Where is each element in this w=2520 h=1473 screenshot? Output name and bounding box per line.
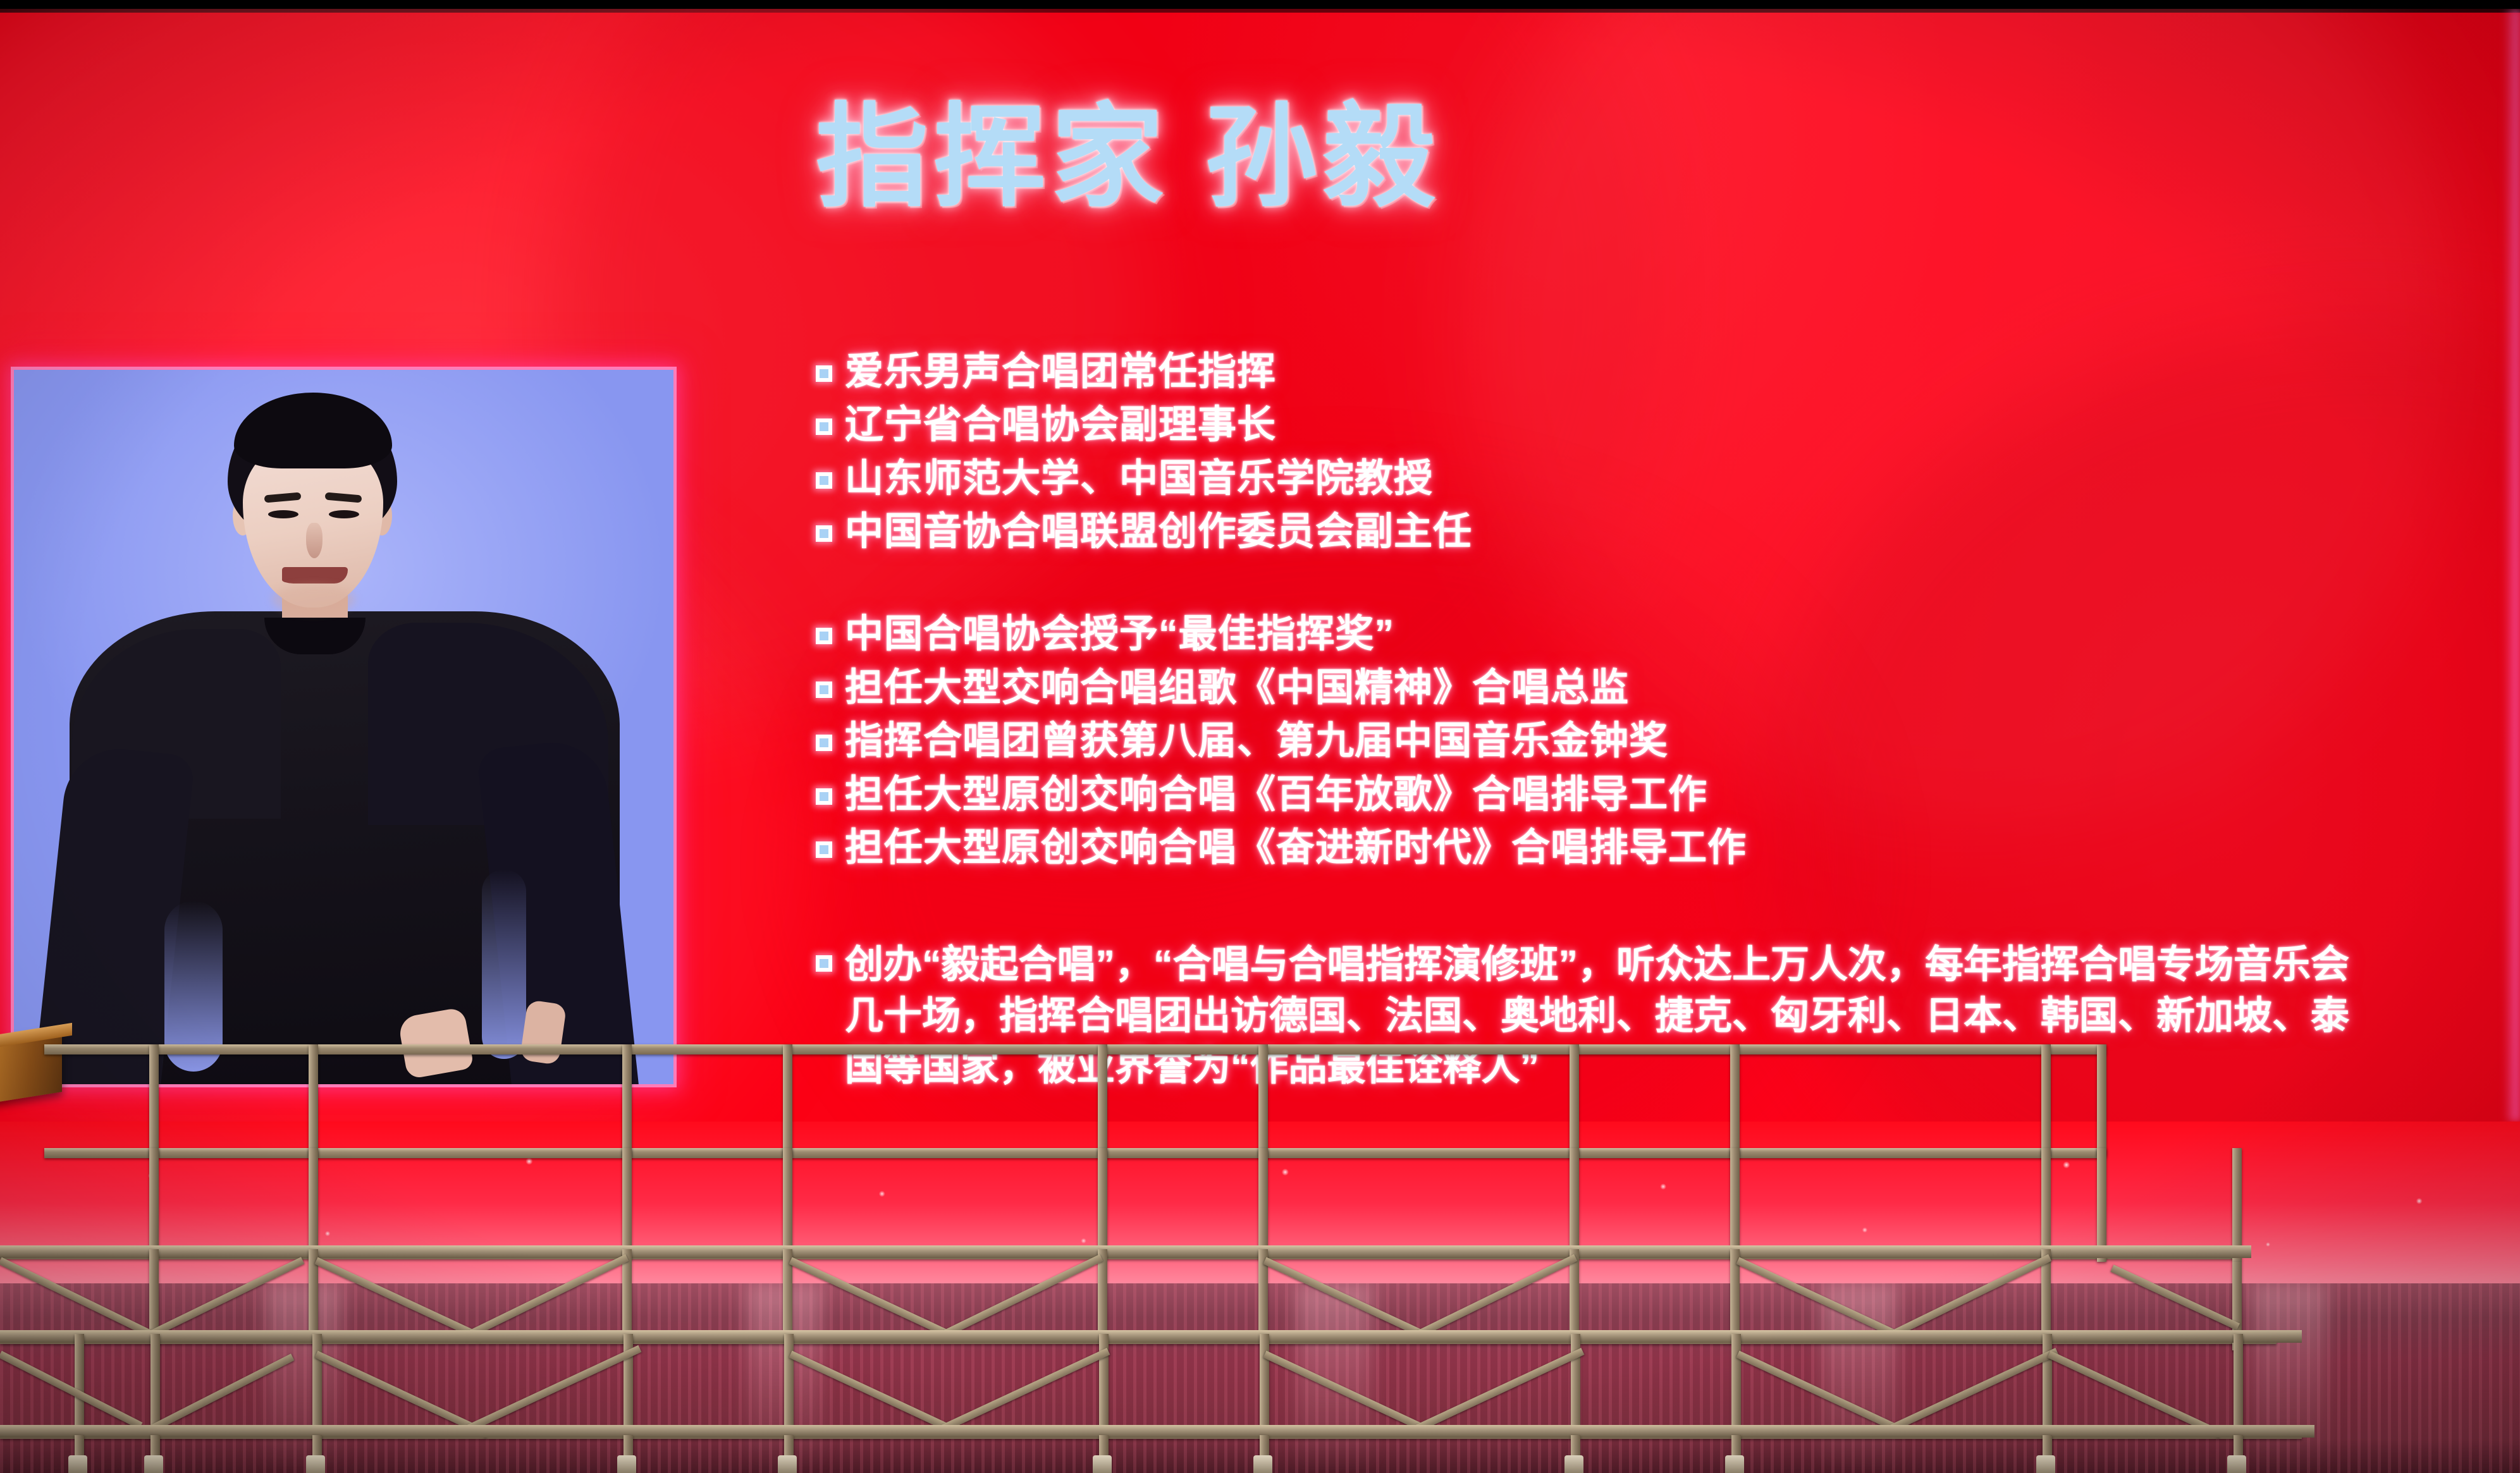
credential-text: 辽宁省合唱协会副理事长: [845, 402, 1276, 447]
portrait-eye-right: [329, 510, 359, 518]
square-bullet-icon: [816, 955, 832, 972]
list-item: 山东师范大学、中国音乐学院教授: [816, 456, 2422, 501]
credential-text: 山东师范大学、中国音乐学院教授: [845, 456, 1433, 501]
portrait-arm-gap-right: [482, 869, 526, 1059]
biography-paragraph: 创办“毅起合唱”，“合唱与合唱指挥演修班”，听众达上万人次，每年指挥合唱专场音乐…: [845, 939, 2375, 1092]
conductor-portrait: [14, 370, 673, 1084]
credentials-list: 爱乐男声合唱团常任指挥 辽宁省合唱协会副理事长 山东师范大学、中国音乐学院教授 …: [816, 349, 2422, 1101]
square-bullet-icon: [816, 681, 832, 698]
square-bullet-icon: [816, 472, 832, 489]
screen-right-edge-glow: [2504, 9, 2520, 1122]
square-bullet-icon: [816, 788, 832, 805]
portrait-nose: [306, 523, 323, 558]
screen-top-edge: [0, 9, 2520, 13]
list-item: 担任大型原创交响合唱《奋进新时代》合唱排导工作: [816, 825, 2422, 870]
led-lower-panel: [0, 1122, 2520, 1302]
portrait-eye-left: [268, 510, 298, 518]
list-item: 担任大型原创交响合唱《百年放歌》合唱排导工作: [816, 772, 2422, 817]
portrait-arm-gap-left: [164, 901, 223, 1072]
square-bullet-icon: [816, 628, 832, 644]
list-item: 辽宁省合唱协会副理事长: [816, 402, 2422, 447]
credential-text: 担任大型交响合唱组歌《中国精神》合唱总监: [845, 665, 1629, 710]
square-bullet-icon: [816, 525, 832, 542]
portrait-hand-left: [397, 1007, 474, 1080]
credential-text: 爱乐男声合唱团常任指挥: [845, 349, 1276, 394]
square-bullet-icon: [816, 735, 832, 751]
portrait-mouth: [282, 567, 348, 584]
list-item: 爱乐男声合唱团常任指挥: [816, 349, 2422, 394]
credential-text: 指挥合唱团曾获第八届、第九届中国音乐金钟奖: [845, 718, 1668, 763]
list-item: 担任大型交响合唱组歌《中国精神》合唱总监: [816, 665, 2422, 710]
list-item: 中国音协合唱联盟创作委员会副主任: [816, 509, 2422, 554]
sparkle-texture: [0, 1122, 2520, 1302]
slide-title: 指挥家 孙毅: [816, 101, 1440, 214]
stage-scene: 指挥家 孙毅 爱乐男声合唱团常任指挥: [0, 0, 2520, 1473]
list-item: 指挥合唱团曾获第八届、第九届中国音乐金钟奖: [816, 718, 2422, 763]
square-bullet-icon: [816, 365, 832, 382]
group-separator: [816, 562, 2422, 611]
paragraph-separator: [816, 878, 2422, 939]
square-bullet-icon: [816, 419, 832, 435]
credential-text: 中国合唱协会授予“最佳指挥奖”: [845, 611, 1394, 656]
credential-text: 担任大型原创交响合唱《奋进新时代》合唱排导工作: [845, 825, 1747, 870]
list-item: 创办“毅起合唱”，“合唱与合唱指挥演修班”，听众达上万人次，每年指挥合唱专场音乐…: [816, 939, 2422, 1092]
floor-reflection: [0, 1283, 2520, 1473]
list-item: 中国合唱协会授予“最佳指挥奖”: [816, 611, 2422, 656]
credential-text: 担任大型原创交响合唱《百年放歌》合唱排导工作: [845, 772, 1707, 817]
square-bullet-icon: [816, 841, 832, 858]
portrait-chin-shadow: [272, 585, 355, 614]
stage-floor: [0, 1283, 2520, 1473]
credential-text: 中国音协合唱联盟创作委员会副主任: [845, 509, 1472, 554]
